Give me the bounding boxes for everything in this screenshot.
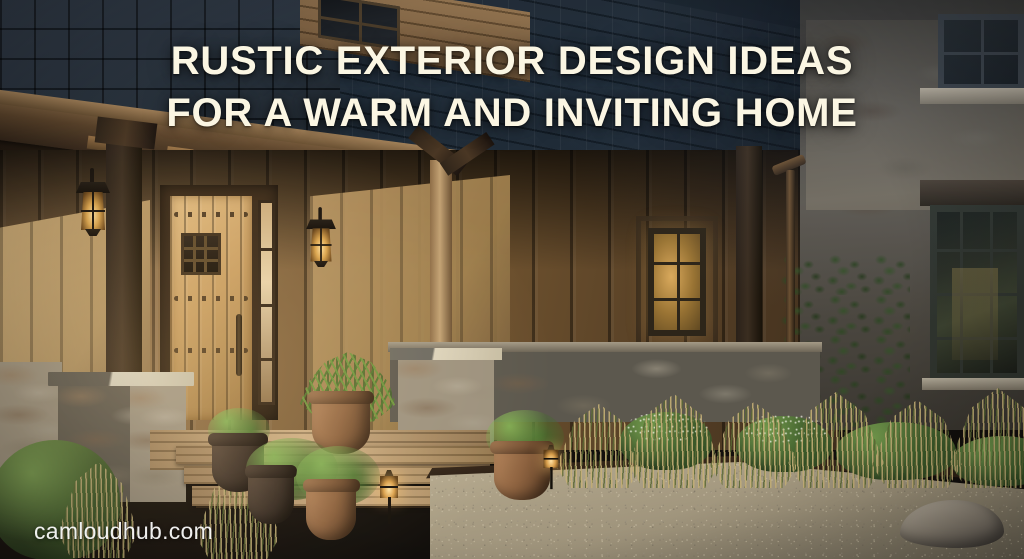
sconce-arm xyxy=(318,207,322,221)
leafy-pot-mid xyxy=(248,472,294,524)
fountain-grass-clump xyxy=(950,388,1024,488)
sidelight-mullion xyxy=(258,358,275,361)
door-pull-handle[interactable] xyxy=(236,314,242,376)
fountain-grass-clump xyxy=(628,394,720,488)
foundation-planting-bed xyxy=(560,378,1024,488)
lantern-stake xyxy=(550,467,552,489)
path-lantern-center xyxy=(378,470,400,524)
stone-pier-cap-left xyxy=(48,372,194,386)
wall-sconce-lantern-center xyxy=(306,216,336,274)
sconce-base xyxy=(85,229,101,236)
sconce-cage-bar xyxy=(81,210,105,212)
door-sidelight-window xyxy=(258,200,275,405)
pot-rim xyxy=(308,391,374,404)
grille-bar xyxy=(184,259,218,262)
hero-image-canvas: RUSTIC EXTERIOR DESIGN IDEAS FOR A WARM … xyxy=(0,0,1024,559)
stone-pier-cap-center xyxy=(390,348,502,360)
sconce-cage-bar xyxy=(310,244,331,246)
lantern-cage-bar xyxy=(544,458,559,460)
fountain-grass-clump xyxy=(788,392,884,488)
center-lit-window xyxy=(648,228,706,336)
window-mullion xyxy=(654,298,700,301)
fountain-grass-clump xyxy=(872,400,962,488)
grille-bar xyxy=(184,247,218,250)
window-mullion xyxy=(944,52,1018,55)
window-mullion xyxy=(937,249,1017,252)
fountain-grass-clump xyxy=(556,404,642,488)
pot-rim xyxy=(208,433,267,446)
right-window-lintel xyxy=(920,180,1024,206)
upper-window-sill xyxy=(920,88,1024,104)
lantern-stake xyxy=(388,497,391,524)
grille-bar xyxy=(193,236,196,272)
sidelight-mullion xyxy=(258,304,275,307)
leafy-pot-front xyxy=(306,486,356,540)
right-window-interior-glow xyxy=(952,268,998,360)
path-lantern-right xyxy=(542,445,560,489)
wall-sconce-lantern-left xyxy=(76,178,110,244)
window-mullion xyxy=(677,234,680,330)
window-mullion xyxy=(654,262,700,265)
sconce-arm xyxy=(90,168,94,184)
lantern-cage-bar xyxy=(380,486,398,488)
clavos-stud-row xyxy=(174,296,248,301)
sidelight-mullion xyxy=(258,248,275,251)
speakeasy-grille-icon xyxy=(184,236,218,272)
pot-rim xyxy=(245,465,297,478)
grille-bar xyxy=(204,236,207,272)
clavos-stud-row xyxy=(174,212,248,217)
pot-rim xyxy=(303,479,360,492)
upper-right-window xyxy=(938,14,1024,90)
sconce-base xyxy=(314,261,328,267)
